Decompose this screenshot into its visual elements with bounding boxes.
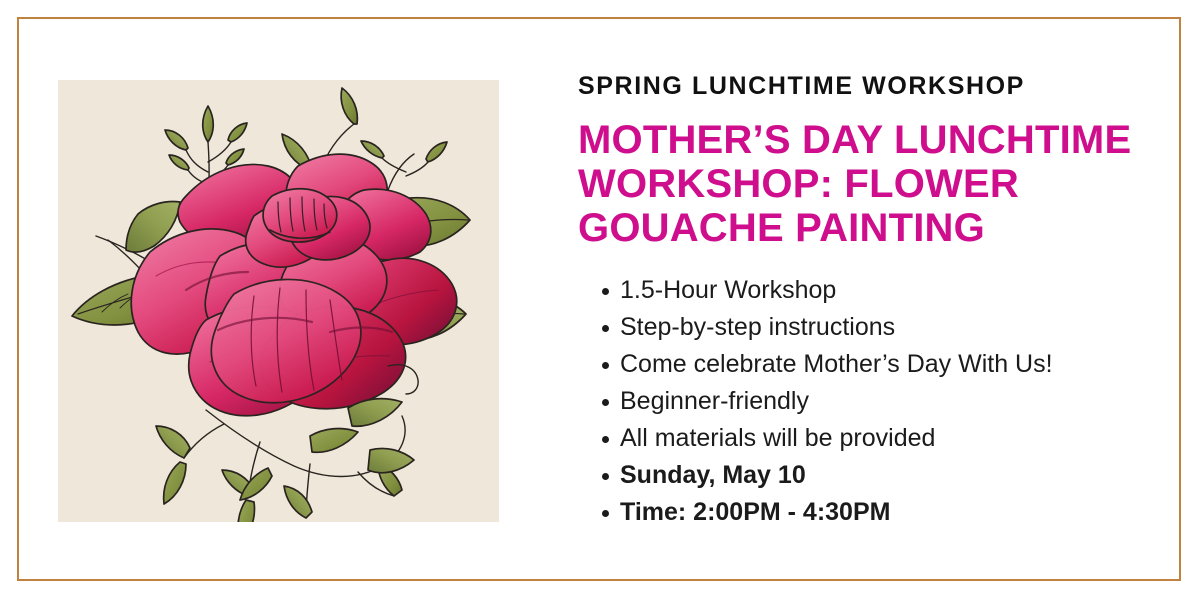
title-line-3: GOUACHE PAINTING	[578, 206, 1158, 250]
title-line-1: MOTHER’S DAY LUNCHTIME	[578, 118, 1158, 162]
list-item: Beginner-friendly	[600, 383, 1158, 420]
list-item: All materials will be provided	[600, 420, 1158, 457]
list-item-date: Sunday, May 10	[600, 457, 1158, 494]
list-item: Come celebrate Mother’s Day With Us!	[600, 346, 1158, 383]
list-item: Step-by-step instructions	[600, 309, 1158, 346]
peony-painting-image	[58, 80, 499, 522]
event-details-list: 1.5-Hour Workshop Step-by-step instructi…	[578, 272, 1158, 531]
page-title: MOTHER’S DAY LUNCHTIME WORKSHOP: FLOWER …	[578, 118, 1158, 250]
list-item-time: Time: 2:00PM - 4:30PM	[600, 494, 1158, 531]
event-flyer: SPRING LUNCHTIME WORKSHOP MOTHER’S DAY L…	[0, 0, 1200, 600]
flyer-content: SPRING LUNCHTIME WORKSHOP MOTHER’S DAY L…	[0, 0, 1200, 600]
flyer-text-column: SPRING LUNCHTIME WORKSHOP MOTHER’S DAY L…	[578, 72, 1158, 531]
eyebrow-label: SPRING LUNCHTIME WORKSHOP	[578, 72, 1158, 100]
title-line-2: WORKSHOP: FLOWER	[578, 162, 1158, 206]
list-item: 1.5-Hour Workshop	[600, 272, 1158, 309]
